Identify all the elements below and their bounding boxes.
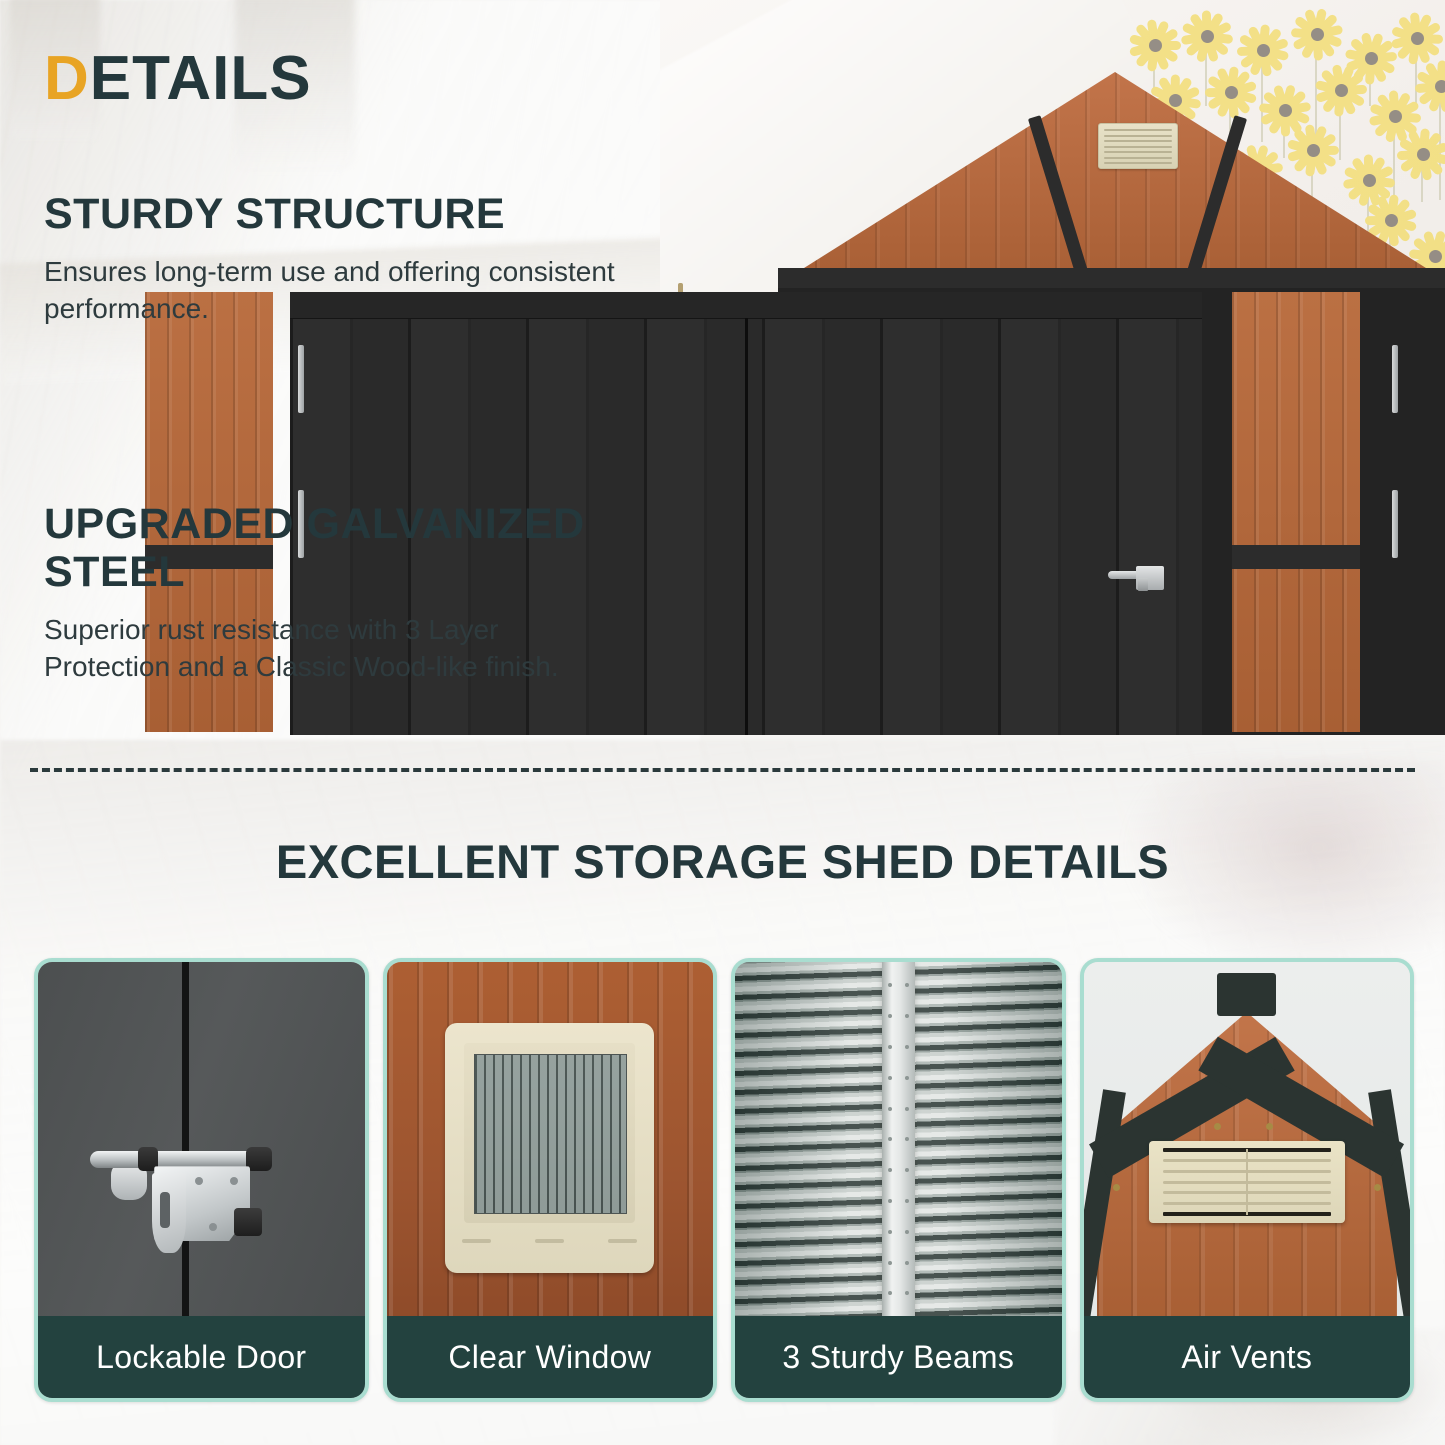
beam-rivet (888, 1076, 892, 1080)
card-image-air-vents (1084, 962, 1411, 1320)
window-tab-1 (462, 1239, 491, 1243)
feature-heading: UPGRADED GALVANIZED STEEL (44, 500, 624, 596)
vent-slat (1104, 157, 1172, 159)
window-inner-frame (464, 1043, 635, 1223)
beam-rivet (905, 1045, 909, 1049)
beam-rivet (888, 1168, 892, 1172)
page-title: DETAILS (44, 48, 312, 110)
dashed-divider (30, 768, 1415, 772)
detail-card-lockable-door[interactable]: Lockable Door (34, 958, 369, 1402)
feature-block-galvanized-steel: UPGRADED GALVANIZED STEEL Superior rust … (44, 500, 624, 686)
beam-rivet (888, 1291, 892, 1295)
feature-body: Superior rust resistance with 3 Layer Pr… (44, 612, 624, 686)
beam-rivet (905, 1168, 909, 1172)
lock-clip (234, 1208, 261, 1236)
center-support-beam (882, 962, 915, 1320)
vent-slat (1104, 129, 1172, 131)
window-tab-2 (535, 1239, 564, 1243)
shed-gable-vent-icon (1098, 123, 1178, 169)
shed-hinge-right-top (1392, 345, 1398, 413)
beam-rivet (888, 983, 892, 987)
vent-divider (1246, 1149, 1248, 1215)
card-image-lockable-door (38, 962, 365, 1320)
window-glass (474, 1054, 627, 1215)
lock-padlock-slot (160, 1192, 170, 1228)
beam-rivet (905, 1137, 909, 1141)
detail-cards: Lockable Door Clear Window (34, 958, 1414, 1398)
gable-screw-right (1374, 1184, 1381, 1191)
air-vent-icon (1149, 1141, 1345, 1223)
vent-slat (1104, 135, 1172, 137)
window-frame (445, 1023, 654, 1274)
page-title-rest: ETAILS (90, 44, 312, 113)
vent-slat (1104, 162, 1172, 164)
page-title-accent-letter: D (44, 44, 90, 113)
feature-heading: STURDY STRUCTURE (44, 190, 624, 238)
beam-rivet (905, 983, 909, 987)
shed-side-panel-right (1232, 292, 1360, 732)
shed-door-seam (745, 318, 748, 735)
beam-rivet (888, 1230, 892, 1234)
window-tab-3 (608, 1239, 637, 1243)
vent-slat (1104, 151, 1172, 153)
feature-block-sturdy-structure: STURDY STRUCTURE Ensures long-term use a… (44, 190, 624, 328)
shed-gable-siding (785, 72, 1445, 280)
beam-rivet (905, 1199, 909, 1203)
infographic-page: DETAILS STURDY STRUCTURE Ensures long-te… (0, 0, 1445, 1445)
beam-rivet (888, 1045, 892, 1049)
card-caption: Lockable Door (38, 1316, 365, 1398)
vent-slat (1104, 140, 1172, 142)
slide-bolt-lock-icon (90, 1130, 319, 1259)
card-caption: Air Vents (1084, 1316, 1411, 1398)
detail-card-clear-window[interactable]: Clear Window (383, 958, 718, 1402)
gable-ridge-cap (1217, 973, 1276, 1016)
vent-slat (1104, 146, 1172, 148)
shed-hinge-right-bottom (1392, 490, 1398, 558)
beam-rivet (905, 1107, 909, 1111)
card-image-sturdy-beams (735, 962, 1062, 1320)
card-image-clear-window (387, 962, 714, 1320)
beam-rivet (888, 1261, 892, 1265)
section-title: EXCELLENT STORAGE SHED DETAILS (0, 834, 1445, 889)
beam-rivet (888, 1107, 892, 1111)
latch-tab (1138, 578, 1148, 591)
lock-screw-1 (195, 1177, 203, 1185)
detail-card-sturdy-beams[interactable]: 3 Sturdy Beams (731, 958, 1066, 1402)
feature-body: Ensures long-term use and offering consi… (44, 254, 624, 328)
beam-rivet (905, 1261, 909, 1265)
shed-hinge-left-top (298, 345, 304, 413)
shed-door-latch-icon (1108, 562, 1164, 592)
beam-rivet (905, 1230, 909, 1234)
shed-side-split-right (1232, 545, 1360, 569)
lock-rod (90, 1151, 264, 1168)
card-caption: 3 Sturdy Beams (735, 1316, 1062, 1398)
beam-rivet (905, 1014, 909, 1018)
shed-header-beam (778, 268, 1445, 290)
beam-rivet (888, 1014, 892, 1018)
gable-screw-left (1113, 1184, 1120, 1191)
beam-rivet (888, 1137, 892, 1141)
beam-rivet (905, 1291, 909, 1295)
detail-card-air-vents[interactable]: Air Vents (1080, 958, 1415, 1402)
lock-screw-2 (230, 1177, 238, 1185)
beam-rivet (905, 1076, 909, 1080)
card-caption: Clear Window (387, 1316, 714, 1398)
beam-rivet (888, 1199, 892, 1203)
shed-gable (785, 72, 1445, 280)
